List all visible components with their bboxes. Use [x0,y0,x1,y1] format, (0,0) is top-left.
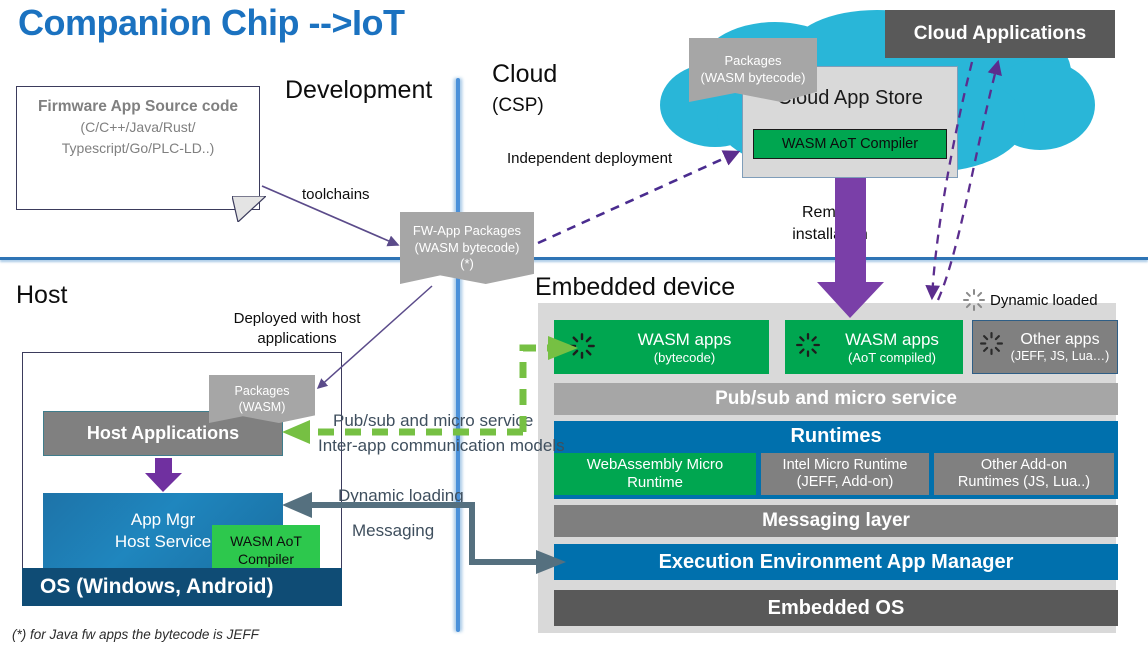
label-remote-installation-line1: Remote [775,204,885,222]
host-os-box[interactable]: OS (Windows, Android) [22,568,342,606]
spinner-icon [795,332,821,358]
app-mgr-line2: Host Service [115,531,211,552]
host-applications-label: Host Applications [87,423,239,444]
host-wasm-aot-line2: Compiler [238,550,294,568]
firmware-source-heading: Firmware App Source code [38,98,238,116]
embedded-app-2-sub: (JEFF, JS, Lua…) [1011,349,1110,363]
embedded-app-1[interactable]: WASM apps (AoT compiled) [785,320,963,374]
host-applications-box[interactable]: Host Applications [43,411,283,456]
cloud-wasm-aot-compiler-label: WASM AoT Compiler [782,136,918,152]
runtime-2-line2: Runtimes (JS, Lua..) [958,474,1090,491]
firmware-source-line2: Typescript/Go/PLC-LD..) [62,139,215,158]
fw-app-packages-tag: FW-App Packages (WASM bytecode) (*) [400,212,534,284]
runtime-1-line1: Intel Micro Runtime [783,457,908,474]
label-remote-installation-line2: installation [762,226,898,244]
section-heading-cloud: Cloud [492,60,557,89]
cloud-packages-line1: Packages [724,53,781,70]
cloud-applications-label: Cloud Applications [914,23,1086,45]
fw-app-packages-line1: FW-App Packages [413,223,521,240]
spinner-icon [962,288,986,312]
cloud-wasm-aot-compiler-box[interactable]: WASM AoT Compiler [753,129,947,159]
firmware-source-line1: (C/C++/Java/Rust/ [80,118,195,137]
footnote: (*) for Java fw apps the bytecode is JEF… [12,627,259,642]
embedded-app-2-name: Other apps [1020,331,1099,349]
cloud-packages-line2: (WASM bytecode) [701,70,806,87]
spinner-icon [979,331,1004,356]
embedded-app-1-sub: (AoT compiled) [848,350,936,365]
label-dynamic-loading: Dynamic loading [338,486,464,506]
embedded-app-2[interactable]: Other apps (JEFF, JS, Lua…) [972,320,1118,374]
label-dynamic-loaded: Dynamic loaded [990,292,1098,309]
runtime-2-line1: Other Add-on [981,457,1067,474]
section-subheading-cloud: (CSP) [492,95,544,117]
embedded-os-label: Embedded OS [768,597,905,620]
section-heading-embedded: Embedded device [535,273,735,302]
embedded-app-0-name: WASM apps [638,330,732,350]
embedded-app-0-sub: (bytecode) [654,350,715,365]
spinner-icon [568,332,596,360]
pubsub-micro-service-bar[interactable]: Pub/sub and micro service [554,383,1118,415]
embedded-app-1-name: WASM apps [845,330,939,350]
runtime-0[interactable]: WebAssembly Micro Runtime [554,453,756,495]
host-wasm-aot-line1: WASM AoT [230,532,302,550]
section-heading-development: Development [285,76,432,105]
host-packages-line1: Packages [235,383,290,399]
host-packages-tag: Packages (WASM) [209,375,315,423]
label-toolchains: toolchains [302,186,370,203]
runtimes-title: Runtimes [554,421,1118,451]
callout-tail [232,196,266,222]
embedded-os-bar[interactable]: Embedded OS [554,590,1118,626]
label-pubsub-micro-service: Pub/sub and micro service [333,411,533,431]
cloud-packages-tag: Packages (WASM bytecode) [689,38,817,102]
label-deployed-with-host-line2: applications [222,330,372,347]
embedded-app-0[interactable]: WASM apps (bytecode) [554,320,769,374]
host-packages-line2: (WASM) [239,399,286,415]
messaging-layer-label: Messaging layer [762,510,910,532]
messaging-layer-bar[interactable]: Messaging layer [554,505,1118,537]
execution-environment-app-manager-bar[interactable]: Execution Environment App Manager [554,544,1118,580]
divider-horizontal [0,257,1148,260]
app-mgr-line1: App Mgr [131,509,195,530]
runtime-0-line1: WebAssembly Micro [587,456,723,474]
fw-app-packages-line2: (WASM bytecode) [415,240,520,257]
runtime-0-line2: Runtime [627,474,683,492]
arrow-remote-installation [817,178,884,318]
fw-app-packages-line3: (*) [460,256,474,273]
pubsub-micro-service-label: Pub/sub and micro service [715,388,957,410]
label-interapp-models: Inter-app communication models [318,436,565,456]
label-messaging: Messaging [352,521,434,541]
page-title: Companion Chip -->IoT [18,2,404,44]
runtime-1[interactable]: Intel Micro Runtime (JEFF, Add-on) [761,453,929,495]
label-independent-deployment: Independent deployment [507,150,672,167]
section-heading-host: Host [16,281,67,310]
host-os-label: OS (Windows, Android) [40,575,274,599]
cloud-applications-box[interactable]: Cloud Applications [885,10,1115,58]
diagram-canvas: Companion Chip -->IoT Development Cloud … [0,0,1148,653]
runtime-2[interactable]: Other Add-on Runtimes (JS, Lua..) [934,453,1114,495]
runtime-1-line2: (JEFF, Add-on) [797,474,894,491]
label-deployed-with-host-line1: Deployed with host [222,310,372,327]
firmware-source-code-box: Firmware App Source code (C/C++/Java/Rus… [16,86,260,210]
execution-environment-label: Execution Environment App Manager [659,551,1014,574]
